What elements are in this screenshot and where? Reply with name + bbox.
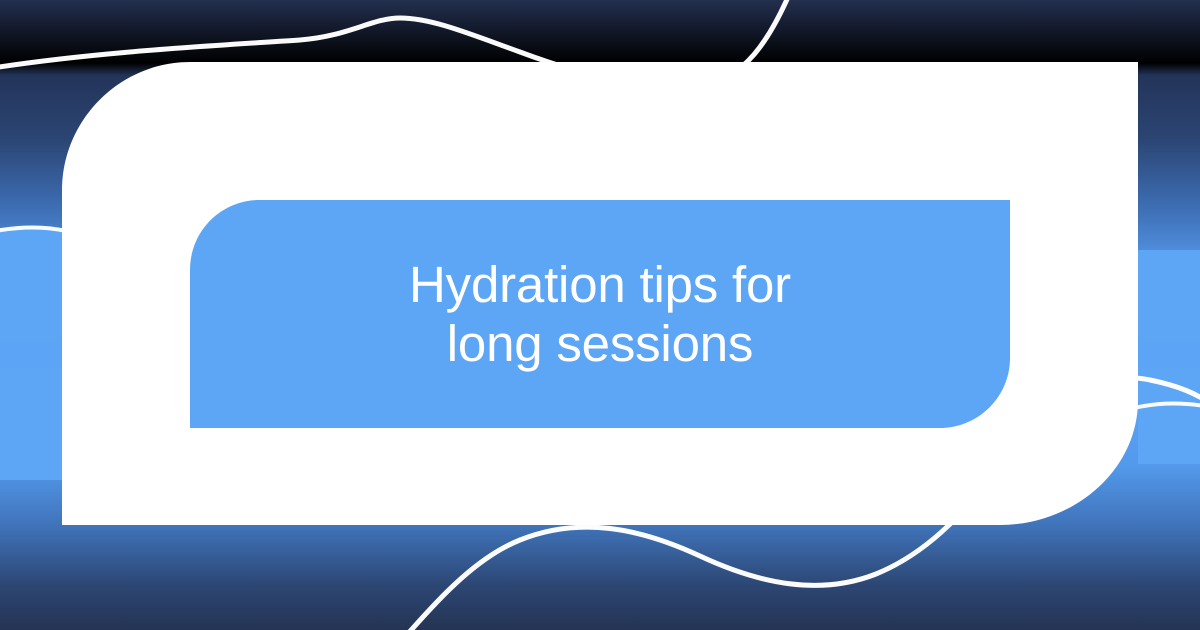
background-artwork <box>0 0 1200 630</box>
left-blue-band-lower <box>0 368 62 480</box>
right-blue-band-upper <box>1138 250 1200 342</box>
social-card-canvas: Hydration tips for long sessions <box>0 0 1200 630</box>
accent-panel <box>190 200 1010 428</box>
left-blue-band-upper <box>0 228 62 342</box>
